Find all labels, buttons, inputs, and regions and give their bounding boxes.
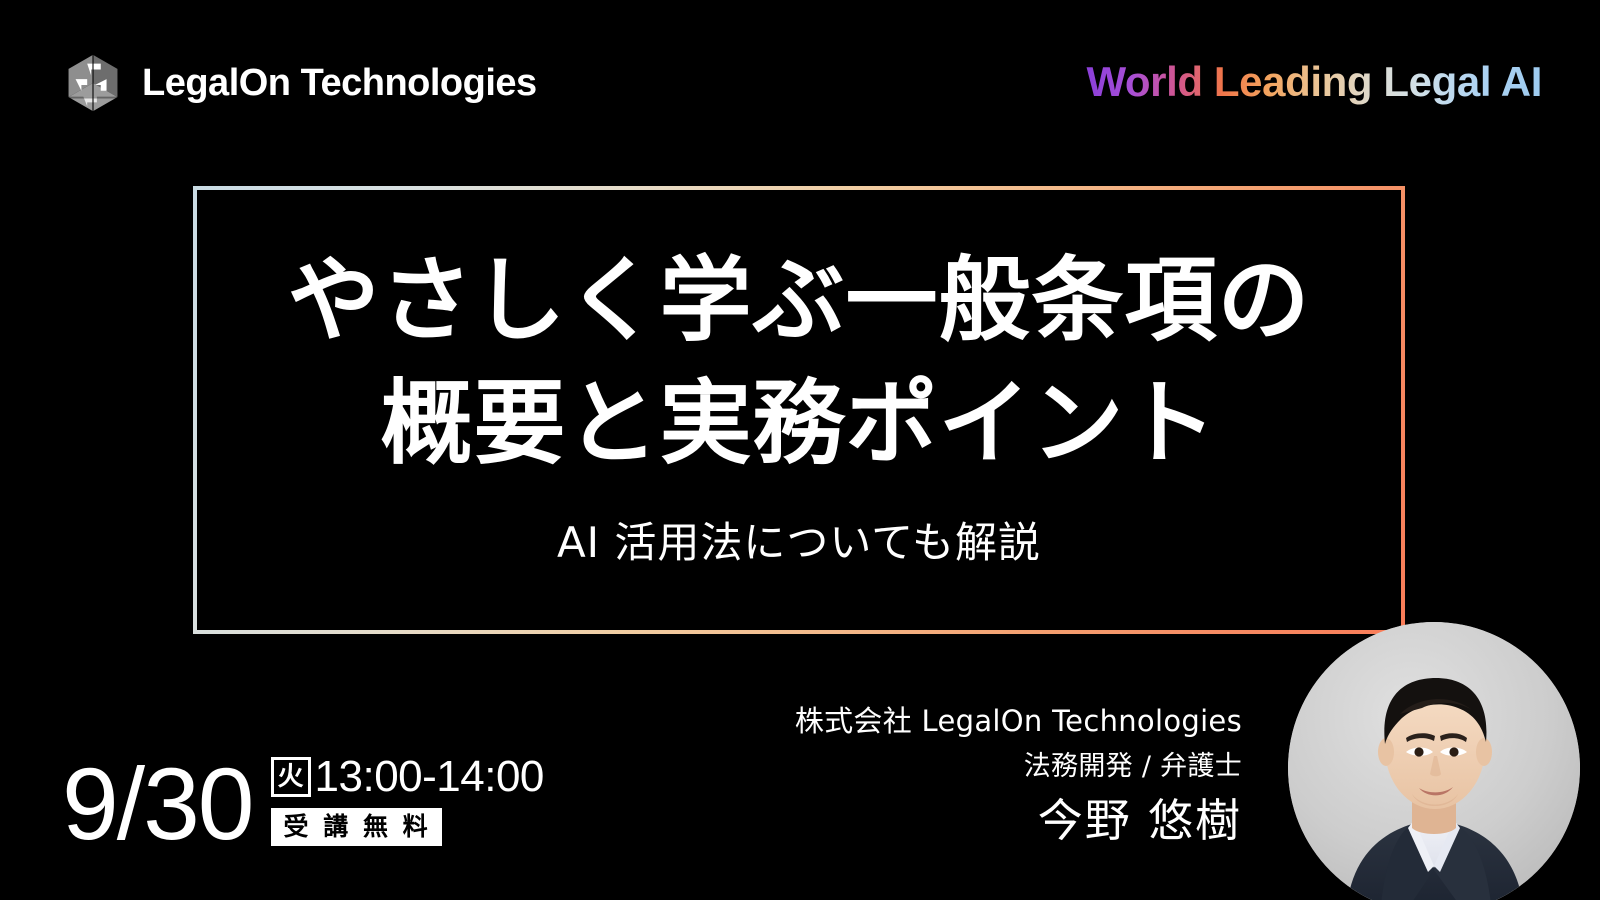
schedule-block: 9/30 火 13:00-14:00 受 講 無 料 [62, 755, 544, 853]
schedule-details: 火 13:00-14:00 受 講 無 料 [271, 755, 544, 853]
speaker-block: 株式会社 LegalOn Technologies 法務開発 / 弁護士 今野 … [795, 702, 1242, 848]
tagline: World Leading Legal AI [1086, 58, 1542, 106]
speaker-company: 株式会社 LegalOn Technologies [795, 702, 1242, 741]
title-line-1: やさしく学ぶ一般条項の [287, 240, 1310, 362]
legalon-hexagon-logo-icon [62, 52, 124, 114]
speaker-role: 法務開発 / 弁護士 [795, 747, 1242, 786]
time-row: 火 13:00-14:00 [271, 755, 544, 799]
brand-name: LegalOn Technologies [142, 62, 537, 105]
day-of-week-badge: 火 [271, 757, 311, 797]
speaker-portrait-photo [1288, 622, 1580, 900]
event-time: 13:00-14:00 [315, 755, 544, 799]
brand-lockup: LegalOn Technologies [62, 52, 537, 114]
banner-header: LegalOn Technologies World Leading Legal… [0, 0, 1600, 150]
price-badge: 受 講 無 料 [271, 808, 442, 847]
title-line-2: 概要と実務ポイント [287, 363, 1310, 485]
speaker-name: 今野 悠樹 [795, 794, 1242, 848]
title-lines: やさしく学ぶ一般条項の 概要と実務ポイント [287, 240, 1310, 485]
title-frame: やさしく学ぶ一般条項の 概要と実務ポイント AI 活用法についても解説 [193, 186, 1405, 634]
title-frame-inner: やさしく学ぶ一般条項の 概要と実務ポイント AI 活用法についても解説 [197, 190, 1401, 630]
event-date: 9/30 [62, 758, 253, 852]
title-subtitle: AI 活用法についても解説 [557, 509, 1041, 570]
